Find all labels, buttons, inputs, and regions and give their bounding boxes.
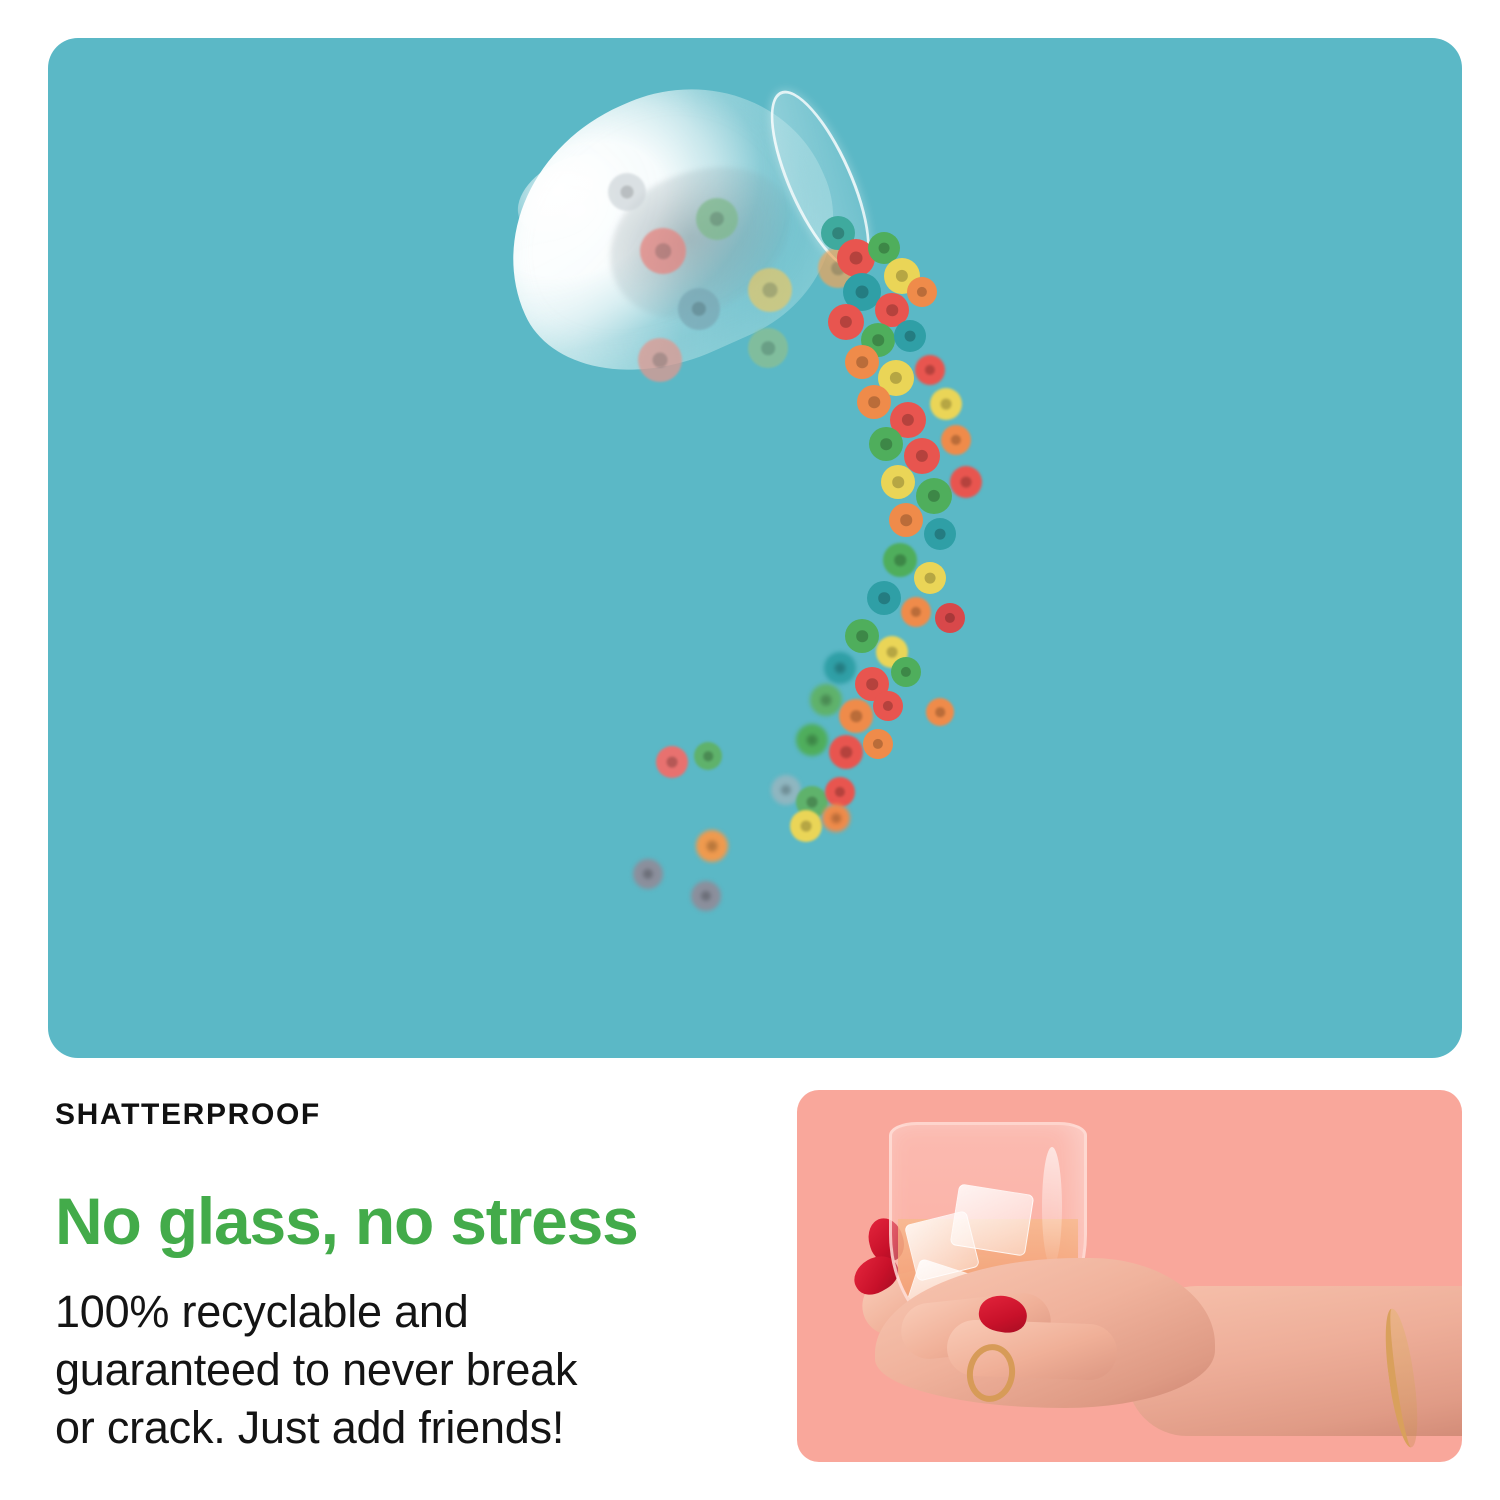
body-copy-line-2: guaranteed to never break bbox=[55, 1341, 715, 1399]
cereal-loop bbox=[941, 425, 971, 455]
headline: No glass, no stress bbox=[55, 1188, 715, 1255]
cereal-loop-in-glass bbox=[748, 328, 788, 368]
cereal-loop-in-glass bbox=[608, 173, 646, 211]
cereal-loop bbox=[881, 465, 915, 499]
cereal-loop bbox=[894, 320, 926, 352]
body-copy: 100% recyclable and guaranteed to never … bbox=[55, 1283, 715, 1456]
cereal-loop bbox=[691, 881, 721, 911]
feature-eyebrow-label: SHATTERPROOF bbox=[55, 1100, 715, 1130]
cereal-loop bbox=[950, 466, 982, 498]
cereal-loop bbox=[873, 691, 903, 721]
cereal-loop bbox=[829, 735, 863, 769]
cereal-loop-in-glass bbox=[696, 198, 738, 240]
product-marketing-image: SHATTERPROOF No glass, no stress 100% re… bbox=[0, 0, 1500, 1500]
cereal-loop bbox=[828, 304, 864, 340]
glass-highlight bbox=[1042, 1147, 1062, 1267]
cereal-loop bbox=[845, 619, 879, 653]
cereal-loop bbox=[916, 478, 952, 514]
cereal-loop bbox=[924, 518, 956, 550]
cereal-loop bbox=[935, 603, 965, 633]
cereal-loop bbox=[857, 385, 891, 419]
cereal-loop bbox=[930, 388, 962, 420]
cereal-loop bbox=[926, 698, 954, 726]
cereal-loop-in-glass bbox=[640, 228, 686, 274]
cereal-loop bbox=[845, 345, 879, 379]
inset-image-panel bbox=[797, 1090, 1462, 1462]
cereal-loop bbox=[867, 581, 901, 615]
cereal-loop bbox=[907, 277, 937, 307]
cereal-loop bbox=[839, 699, 873, 733]
copy-block: SHATTERPROOF No glass, no stress 100% re… bbox=[55, 1100, 715, 1456]
cereal-loop bbox=[694, 742, 722, 770]
cereal-loop bbox=[869, 427, 903, 461]
cereal-loop-in-glass bbox=[678, 288, 720, 330]
cereal-loop-in-glass bbox=[638, 338, 682, 382]
cereal-loop bbox=[656, 746, 688, 778]
cereal-loop bbox=[796, 724, 828, 756]
cereal-loop bbox=[891, 657, 921, 687]
cereal-loop bbox=[883, 543, 917, 577]
cereal-pour-scene bbox=[48, 38, 1462, 1058]
cereal-loop bbox=[863, 729, 893, 759]
cereal-loop-in-glass bbox=[748, 268, 792, 312]
cereal-loop bbox=[824, 652, 856, 684]
body-copy-line-1: 100% recyclable and bbox=[55, 1283, 715, 1341]
hero-image-panel bbox=[48, 38, 1462, 1058]
body-copy-line-3: or crack. Just add friends! bbox=[55, 1399, 715, 1457]
ice-cube bbox=[950, 1183, 1035, 1256]
cereal-loop bbox=[825, 777, 855, 807]
cereal-loop bbox=[915, 355, 945, 385]
hand-with-glass-scene bbox=[797, 1090, 1462, 1462]
cereal-loop bbox=[822, 804, 850, 832]
cereal-loop bbox=[696, 830, 728, 862]
cereal-loop bbox=[790, 810, 822, 842]
cereal-loop bbox=[889, 503, 923, 537]
cereal-loop bbox=[901, 597, 931, 627]
cereal-loop bbox=[633, 859, 663, 889]
cereal-loop bbox=[810, 684, 842, 716]
cereal-loop bbox=[914, 562, 946, 594]
